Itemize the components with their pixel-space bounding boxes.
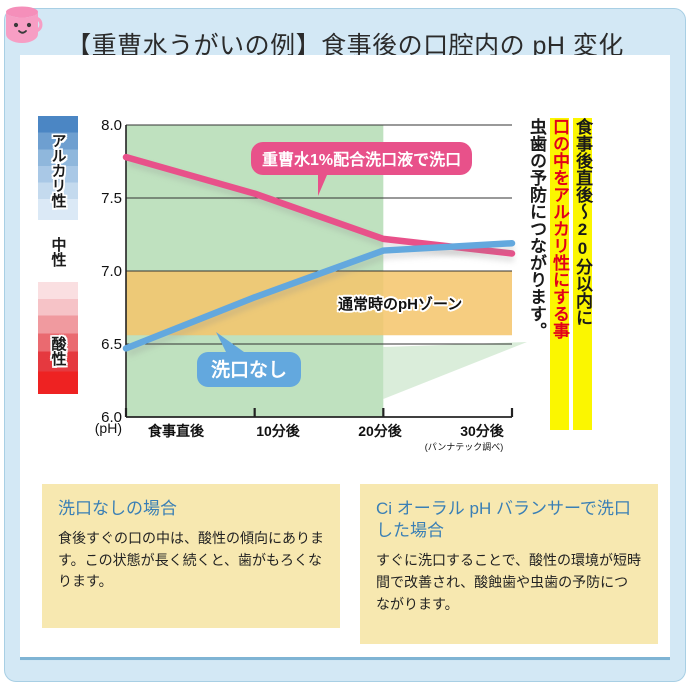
note-body-no-rinse: 食後すぐの口の中は、酸性の傾向にあります。この状態が長く続くと、歯がもろくなりま… (58, 528, 324, 593)
note-heading-with-rinse: Ci オーラル pH バランサーで洗口した場合 (376, 498, 642, 542)
side-text-line-1: 食事後直後〜20分以内に (573, 118, 592, 430)
note-heading-no-rinse: 洗口なしの場合 (58, 498, 324, 520)
ph-scale-alkaline-label: アルカリ性 (38, 124, 78, 216)
side-text-line-3: 虫歯の予防につながります。 (527, 118, 546, 430)
side-text-line-2: 口の中をアルカリ性にする事 (550, 118, 569, 430)
ph-scale-neutral-label: 中性 (38, 224, 78, 280)
side-emphasis-text: 食事後直後〜20分以内に 口の中をアルカリ性にする事 虫歯の予防につながります。 (527, 118, 592, 430)
note-body-with-rinse: すぐに洗口することで、酸性の環境が短時間で改善され、酸蝕歯や虫歯の予防につながり… (376, 550, 642, 615)
ph-scale-legend: アルカリ性 中性 酸性 (38, 116, 78, 394)
infographic-root: 【重曹水うがいの例】食事後の口腔内の pH 変化 アルカリ性 中性 酸性 8.0 (0, 0, 690, 690)
note-box-with-rinse: Ci オーラル pH バランサーで洗口した場合 すぐに洗口することで、酸性の環境… (360, 484, 658, 644)
ph-scale-acidic-label: 酸性 (38, 316, 78, 386)
note-box-no-rinse: 洗口なしの場合 食後すぐの口の中は、酸性の傾向にあります。この状態が長く続くと、… (42, 484, 340, 628)
